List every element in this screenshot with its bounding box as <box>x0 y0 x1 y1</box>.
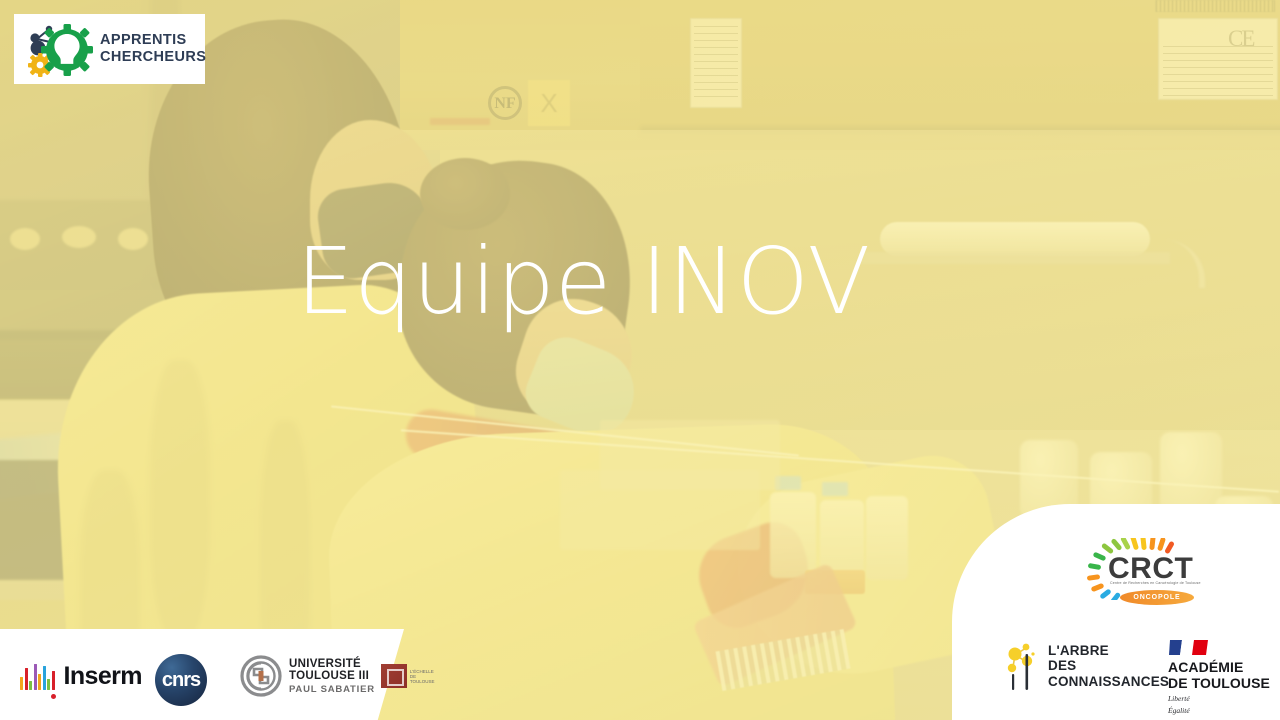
devise-liberte: Liberté <box>1168 694 1270 703</box>
devise-egalite: Égalité <box>1168 706 1270 715</box>
academie-de-toulouse-logo: ACADÉMIE DE TOULOUSE Liberté Égalité Fra… <box>1168 638 1270 720</box>
universite-line1: UNIVERSITÉ <box>289 658 375 671</box>
academie-line1: ACADÉMIE <box>1168 660 1270 676</box>
universite-crest-icon <box>381 664 407 688</box>
universite-toulouse-3-logo: UNIVERSITÉ TOULOUSE III PAUL SABATIER L'… <box>240 655 432 697</box>
universite-line3: PAUL SABATIER <box>289 684 375 695</box>
apprentis-chercheurs-line2: CHERCHEURS <box>100 49 206 66</box>
academie-line2: DE TOULOUSE <box>1168 676 1270 692</box>
arbre-line2: DES <box>1048 658 1169 674</box>
apprentis-chercheurs-line1: APPRENTIS <box>100 32 206 49</box>
slide-title: Equipe INOV <box>296 234 896 331</box>
apprentis-chercheurs-wordmark: APPRENTIS CHERCHEURS <box>100 32 206 66</box>
crct-oncopole-badge: ONCOPOLE <box>1120 590 1194 605</box>
cnrs-logo: cnrs <box>155 654 207 706</box>
crct-subtitle: Centre de Recherches en Cancérologie de … <box>1110 581 1201 585</box>
apprentis-chercheurs-logo: APPRENTIS CHERCHEURS <box>14 14 205 84</box>
crct-oncopole-label: ONCOPOLE <box>1133 594 1180 601</box>
cnrs-wordmark: cnrs <box>162 669 200 692</box>
arbre-tree-icon <box>1004 640 1046 692</box>
arbre-line1: L'ARBRE <box>1048 643 1169 659</box>
inserm-bars-icon <box>20 664 55 690</box>
universite-crest-caption: L'ÉCHELLE DE TOULOUSE <box>410 669 432 684</box>
arbre-des-connaissances-logo: L'ARBRE DES CONNAISSANCES <box>1004 640 1169 692</box>
arbre-wordmark: L'ARBRE DES CONNAISSANCES <box>1048 643 1169 690</box>
arbre-line3: CONNAISSANCES <box>1048 674 1169 690</box>
crct-logo: CRCT Centre de Recherches en Cancérologi… <box>1082 538 1204 610</box>
presentation-slide: CE NF <box>0 0 1280 720</box>
marianne-flag-icon <box>1168 638 1210 657</box>
universite-toulouse-wordmark: UNIVERSITÉ TOULOUSE III PAUL SABATIER <box>289 658 375 695</box>
inserm-logo: Inserm <box>20 662 142 691</box>
inserm-wordmark: Inserm <box>64 662 142 691</box>
universite-toulouse-seal-icon <box>240 655 282 697</box>
apprentis-chercheurs-gear-icon <box>24 21 94 77</box>
inserm-dot-icon <box>51 694 56 699</box>
universite-line2: TOULOUSE III <box>289 670 375 683</box>
